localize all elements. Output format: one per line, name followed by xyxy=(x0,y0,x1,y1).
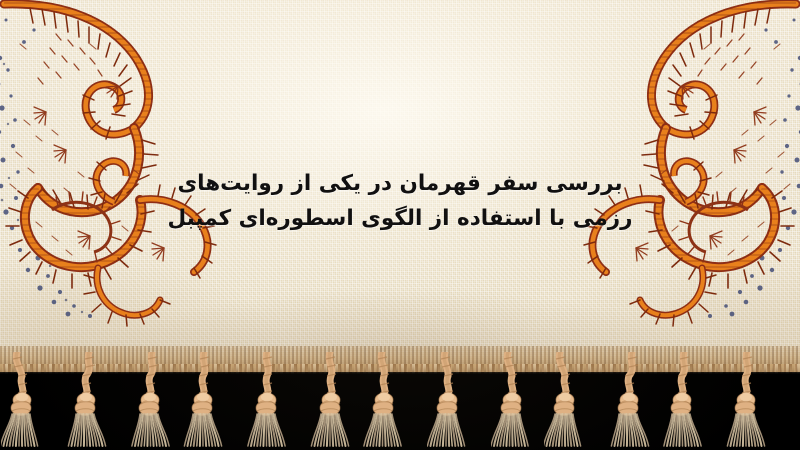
tassel-icon xyxy=(129,352,175,448)
tassel-icon xyxy=(661,352,707,448)
tassel-icon xyxy=(310,352,356,448)
tassel-icon xyxy=(246,352,292,448)
tassel-icon xyxy=(363,352,409,448)
tassel-icon xyxy=(544,352,590,448)
tassel-icon xyxy=(725,352,771,448)
title-line-1: بررسی سفر قهرمان در یکی از روایت‌های xyxy=(0,166,800,201)
tassel-icon xyxy=(1,352,47,448)
tassel-icon xyxy=(491,352,537,448)
title-line-2: رزمی با استفاده از الگوی اسطوره‌ای کمپبل xyxy=(0,201,800,236)
tassel-icon xyxy=(427,352,473,448)
title-slide: بررسی سفر قهرمان در یکی از روایت‌های رزم… xyxy=(0,0,800,450)
knotted-tassel-fringe xyxy=(0,352,800,450)
tassel-icon xyxy=(65,352,111,448)
tassel-icon xyxy=(608,352,654,448)
page-title: بررسی سفر قهرمان در یکی از روایت‌های رزم… xyxy=(0,166,800,236)
tassel-icon xyxy=(182,352,228,448)
